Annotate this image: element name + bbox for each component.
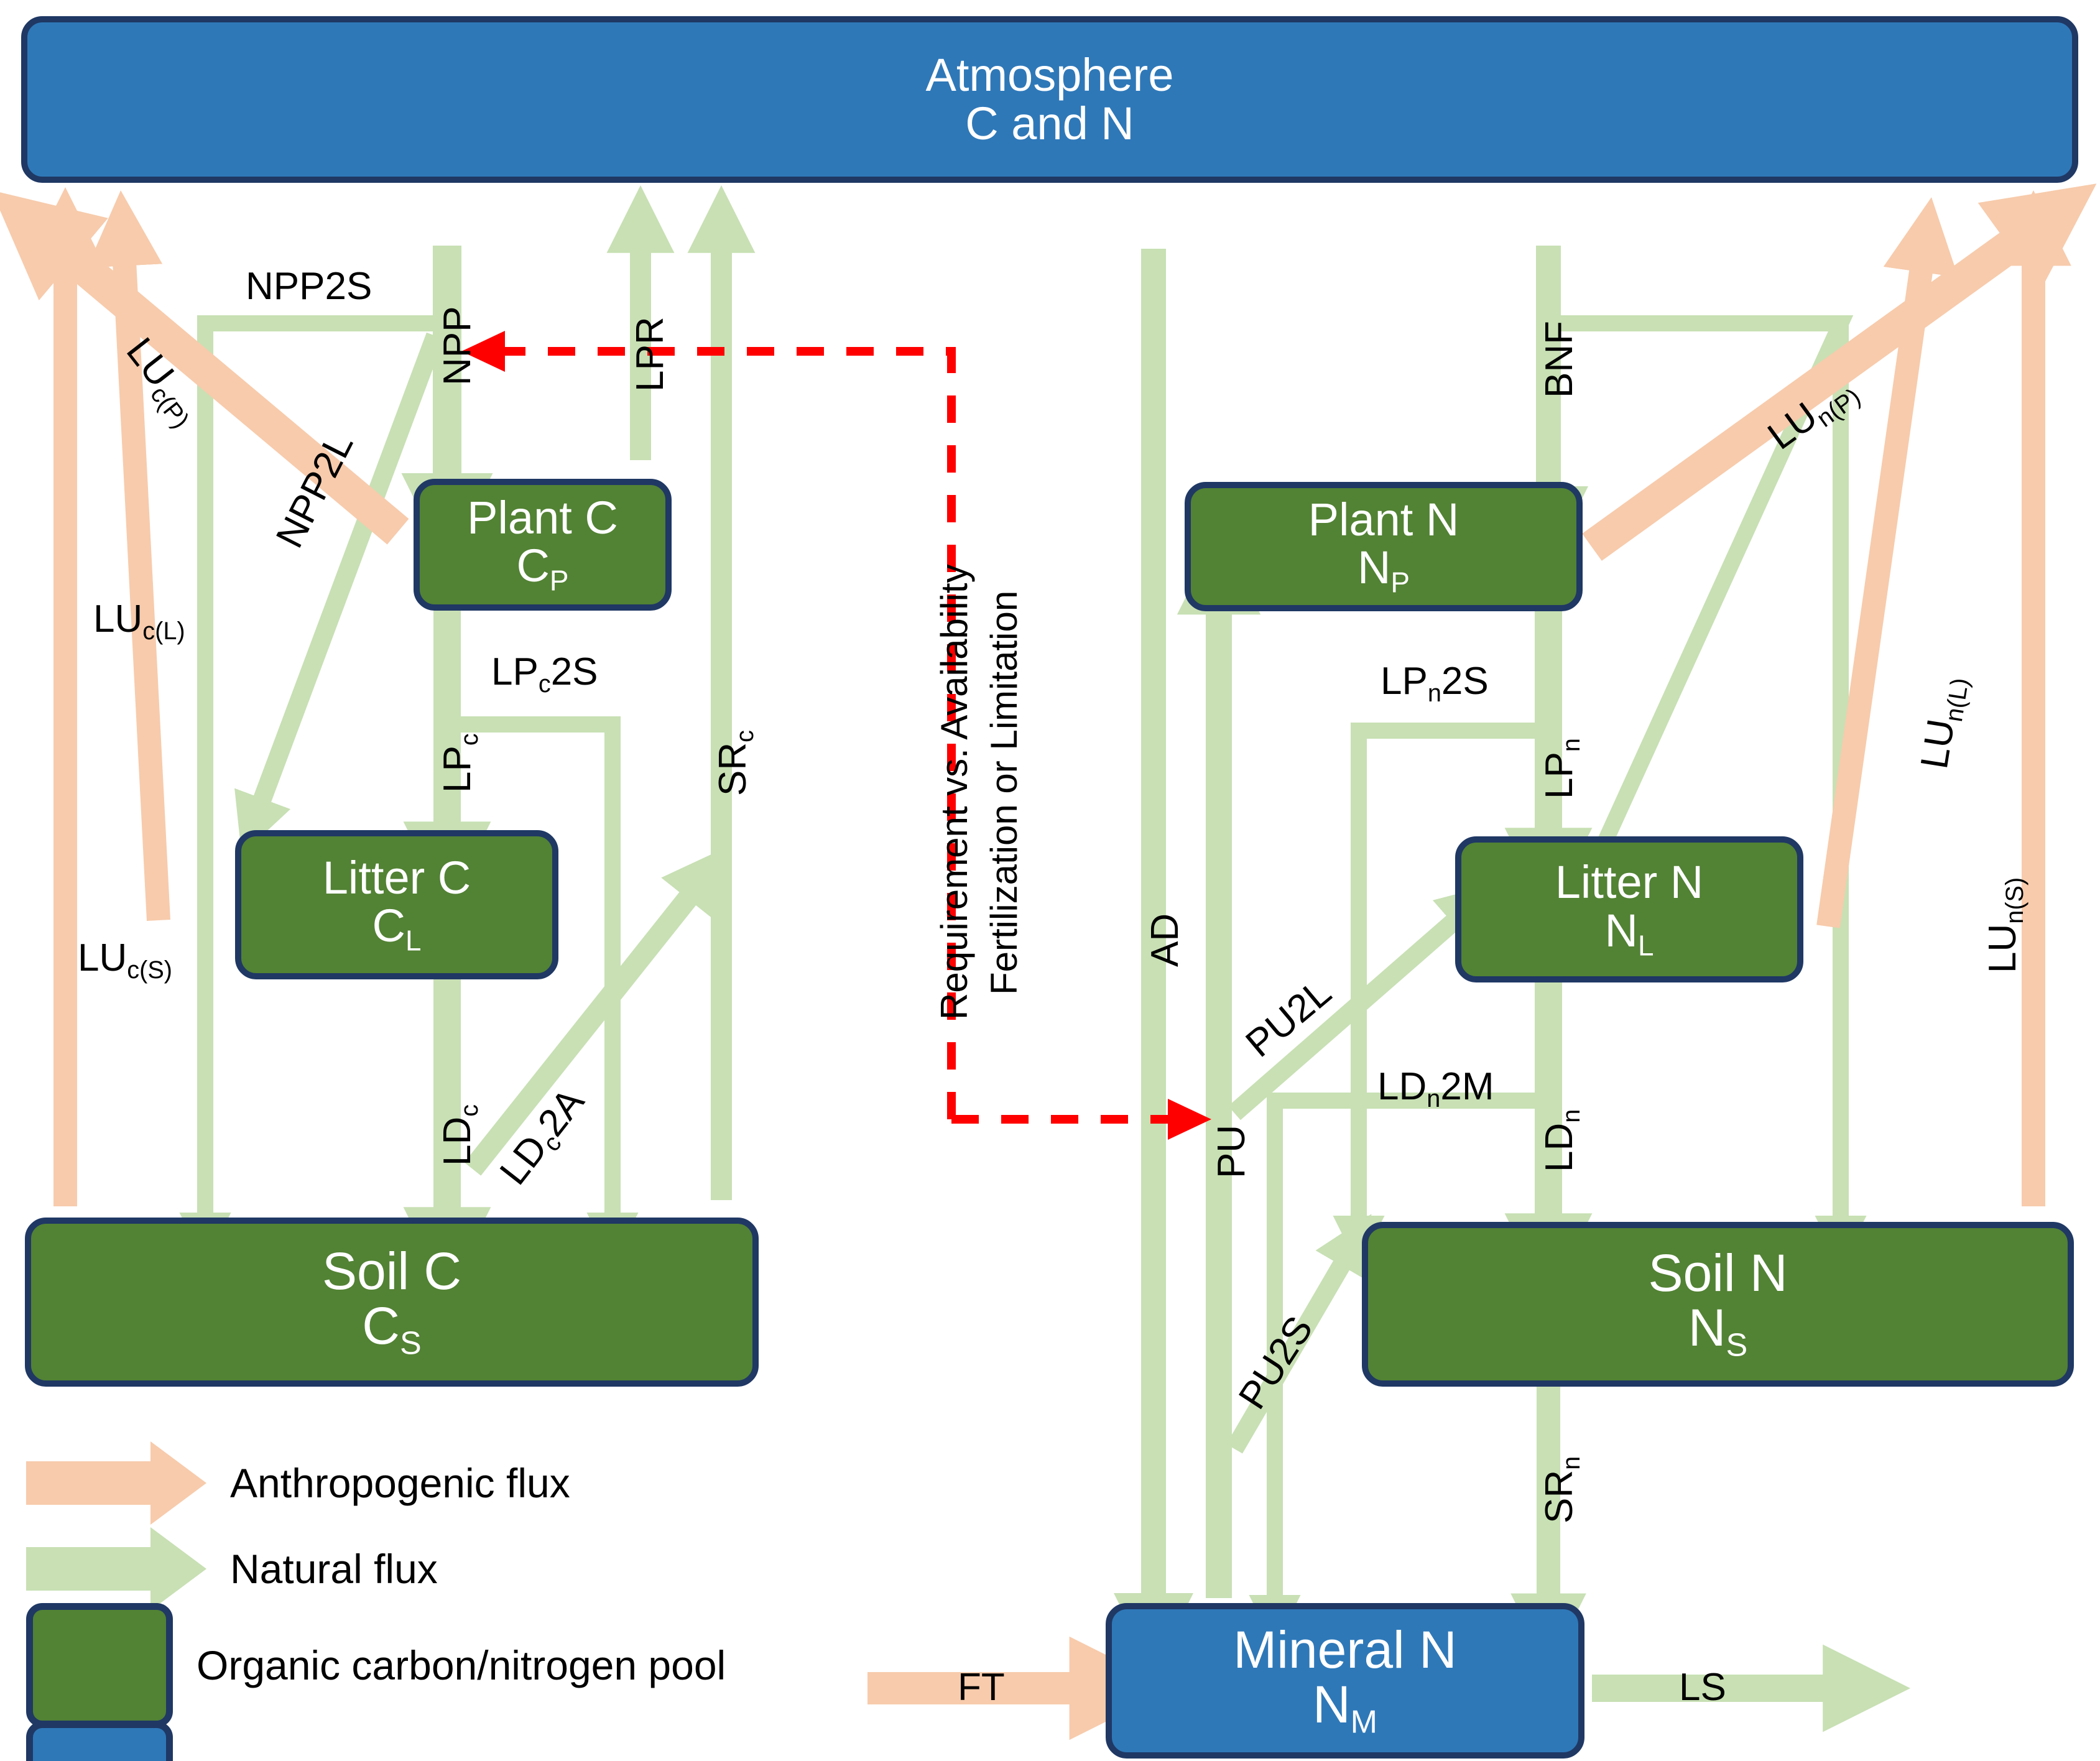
pool-plant-c[interactable]: Plant C CP bbox=[414, 479, 672, 611]
pool-mineral-n[interactable]: Mineral N NM bbox=[1106, 1603, 1584, 1759]
pool-litter-n-label: Litter N bbox=[1555, 858, 1704, 907]
diagram-canvas: Atmosphere C and N Plant C CP Litter C C… bbox=[0, 0, 2100, 1761]
feedback-text-line1: Requirement vs. Availability bbox=[933, 564, 976, 1020]
flux-label-pu: PU bbox=[1210, 1125, 1254, 1178]
pool-litter-c-symbol: CL bbox=[372, 902, 422, 956]
flux-label-npp2s: NPP2S bbox=[246, 264, 372, 308]
pool-litter-c[interactable]: Litter C CL bbox=[235, 830, 558, 979]
pool-mineral-n-symbol: NM bbox=[1313, 1677, 1377, 1739]
swatch-inorganic-pool bbox=[26, 1721, 173, 1761]
flux-label-ld-n: LDn bbox=[1537, 1109, 1586, 1172]
flux-label-sr-n: SRn bbox=[1537, 1456, 1586, 1523]
legend-item-natural: Natural flux bbox=[26, 1522, 438, 1615]
flux-label-ad: AD bbox=[1143, 913, 1187, 967]
flux-label-lpc2s: LPc2S bbox=[491, 650, 598, 698]
pool-soil-c[interactable]: Soil C CS bbox=[25, 1218, 759, 1387]
flux-label-lpr: LPR bbox=[628, 317, 672, 392]
pool-atmosphere-line1: Atmosphere bbox=[926, 51, 1174, 99]
legend-item-inorganic: Inorganic carbon/nitrogen pool bbox=[26, 1622, 751, 1761]
pool-litter-c-label: Litter C bbox=[323, 854, 471, 902]
arrow-peach-icon bbox=[26, 1436, 206, 1530]
pool-soil-n[interactable]: Soil N NS bbox=[1362, 1222, 2074, 1387]
pool-soil-n-symbol: NS bbox=[1688, 1300, 1747, 1362]
arrow-green-icon bbox=[26, 1522, 206, 1615]
pool-soil-n-label: Soil N bbox=[1648, 1246, 1787, 1300]
legend-label-anthropogenic: Anthropogenic flux bbox=[230, 1459, 570, 1507]
flux-label-ls: LS bbox=[1679, 1665, 1726, 1709]
feedback-text-line2: Fertilization or Limitation bbox=[983, 591, 1025, 995]
flux-label-ld-c: LDc bbox=[435, 1104, 484, 1166]
pool-litter-n-symbol: NL bbox=[1605, 907, 1654, 961]
pool-plant-n-label: Plant N bbox=[1308, 496, 1459, 544]
flux-label-lp-c: LPc bbox=[435, 733, 484, 793]
flux-label-lu-cl: LUc(L) bbox=[93, 597, 185, 645]
pool-plant-c-label: Plant C bbox=[467, 494, 618, 542]
flux-label-bnf: BNF bbox=[1537, 321, 1581, 398]
flux-label-ldn2m: LDn2M bbox=[1377, 1065, 1494, 1113]
flux-label-lp-n: LPn bbox=[1537, 738, 1586, 799]
pool-soil-c-symbol: CS bbox=[362, 1298, 421, 1361]
pool-plant-n[interactable]: Plant N NP bbox=[1185, 482, 1583, 611]
pool-soil-c-label: Soil C bbox=[322, 1244, 461, 1298]
pool-atmosphere[interactable]: Atmosphere C and N bbox=[21, 16, 2078, 183]
flux-label-npp: NPP bbox=[435, 307, 479, 386]
flux-label-sr-c: SRc bbox=[711, 730, 759, 796]
legend-label-natural: Natural flux bbox=[230, 1545, 438, 1592]
feedback-arrowheads bbox=[461, 331, 1211, 1140]
pool-atmosphere-line2: C and N bbox=[965, 99, 1134, 148]
flux-label-lu-cs: LUc(S) bbox=[78, 936, 172, 984]
pool-mineral-n-label: Mineral N bbox=[1233, 1622, 1456, 1677]
pool-plant-c-symbol: CP bbox=[516, 542, 568, 596]
flux-label-ft: FT bbox=[958, 1665, 1005, 1709]
flux-label-lu-ns: LUn(S) bbox=[1981, 877, 2029, 973]
pool-plant-n-symbol: NP bbox=[1358, 543, 1410, 598]
pool-litter-n[interactable]: Litter N NL bbox=[1455, 836, 1803, 982]
legend-item-anthropogenic: Anthropogenic flux bbox=[26, 1436, 570, 1530]
flux-label-lpn2s: LPn2S bbox=[1381, 659, 1489, 708]
